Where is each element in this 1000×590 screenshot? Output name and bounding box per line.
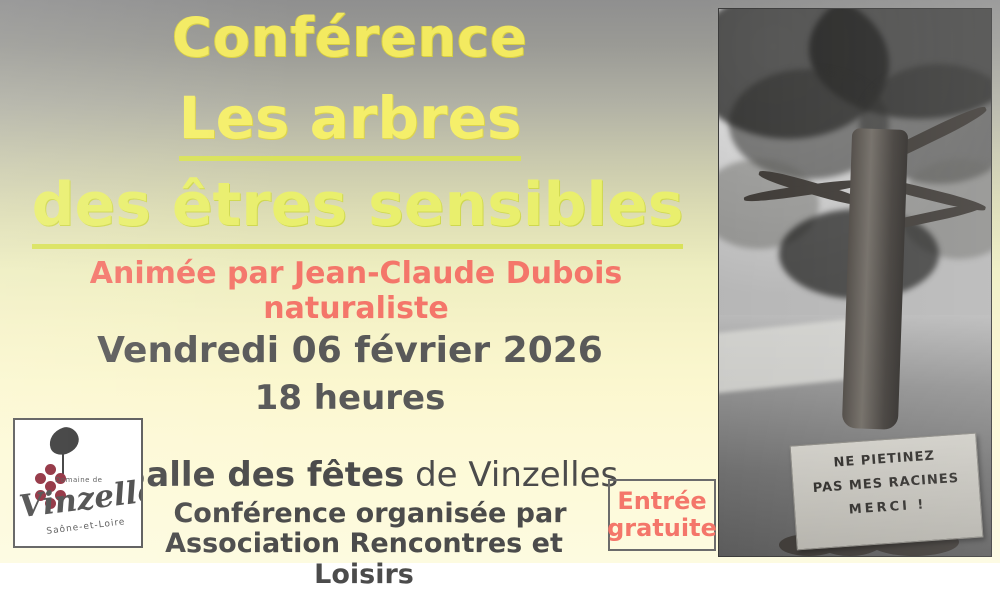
vinzelles-logo: Domaine de Vinzelles Saône-et-Loire bbox=[13, 418, 143, 548]
title-line-2: Les arbres bbox=[0, 84, 700, 152]
title-line-3: des êtres sensibles bbox=[0, 170, 715, 240]
title-line-3-text: des êtres sensibles bbox=[32, 170, 684, 249]
title-line-2-text: Les arbres bbox=[179, 84, 522, 161]
free-entry-line-1: Entrée bbox=[617, 488, 706, 515]
speaker-line: Animée par Jean-Claude Dubois naturalist… bbox=[0, 256, 712, 326]
page-title: Conférence bbox=[0, 6, 700, 69]
warning-sign: NE PIETINEZ PAS MES RACINES MERCI ! bbox=[790, 433, 984, 551]
event-time: 18 heures bbox=[0, 378, 700, 418]
tree-trunk bbox=[842, 128, 908, 430]
free-entry-badge: Entrée gratuite bbox=[608, 479, 716, 551]
poster-text-column: Conférence Les arbres des êtres sensible… bbox=[0, 0, 718, 563]
venue-line: Salle des fêtes de Vinzelles bbox=[120, 455, 620, 495]
venue-name: Salle des fêtes bbox=[122, 455, 405, 495]
free-entry-line-2: gratuite bbox=[607, 515, 717, 542]
organizer-line-1: Conférence organisée par bbox=[120, 498, 620, 529]
organizer-line-2: Association Rencontres et Loisirs bbox=[114, 528, 614, 590]
poster-root: Conférence Les arbres des êtres sensible… bbox=[0, 0, 1000, 563]
event-date: Vendredi 06 février 2026 bbox=[0, 330, 700, 371]
tree-photo: NE PIETINEZ PAS MES RACINES MERCI ! bbox=[718, 8, 992, 557]
leaf-icon bbox=[46, 424, 83, 458]
venue-location: de Vinzelles bbox=[404, 455, 618, 495]
